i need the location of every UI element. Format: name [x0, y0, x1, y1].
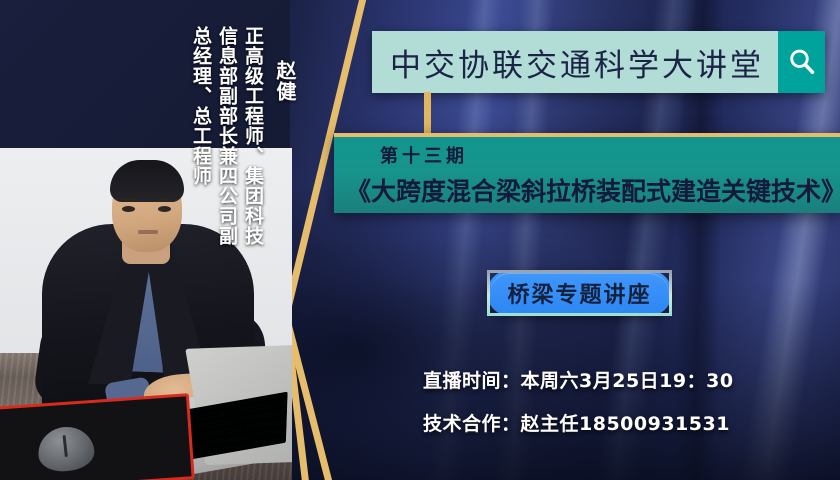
contact-info: 技术合作：赵主任18500931531 [423, 409, 730, 436]
speaker-name: 赵健 [271, 60, 300, 102]
lecture-title-banner: 第十三期 《大跨度混合梁斜拉桥装配式建造关键技术》 [334, 133, 840, 213]
photo-brow-left [120, 198, 138, 202]
photo-mouth [138, 230, 158, 234]
gold-connector-stem [424, 92, 431, 134]
brand-title: 中交协联交通科学大讲堂 [372, 31, 778, 93]
speaker-credential-line-1: 正高级工程师、集团科技 [240, 26, 267, 246]
topic-badge[interactable]: 桥梁专题讲座 [487, 270, 672, 316]
speaker-credential-line-3: 总经理、总工程师 [188, 26, 215, 186]
photo-hair [110, 160, 184, 202]
broadcast-time: 直播时间：本周六3月25日19：30 [423, 366, 734, 393]
lecture-title: 《大跨度混合梁斜拉桥装配式建造关键技术》 [346, 172, 840, 208]
photo-eye-right [158, 206, 171, 212]
speaker-credential-line-2: 信息部副部长兼四公司副 [214, 26, 241, 246]
photo-mousepad [0, 393, 195, 480]
search-icon [787, 47, 817, 77]
brand-header-banner: 中交协联交通科学大讲堂 [372, 31, 825, 93]
webinar-poster: 总经理、总工程师 信息部副部长兼四公司副 正高级工程师、集团科技 赵健 中交协联… [0, 0, 840, 480]
photo-eye-left [122, 206, 135, 212]
photo-brow-right [156, 198, 174, 202]
search-button[interactable] [778, 31, 825, 93]
issue-number: 第十三期 [374, 142, 840, 168]
